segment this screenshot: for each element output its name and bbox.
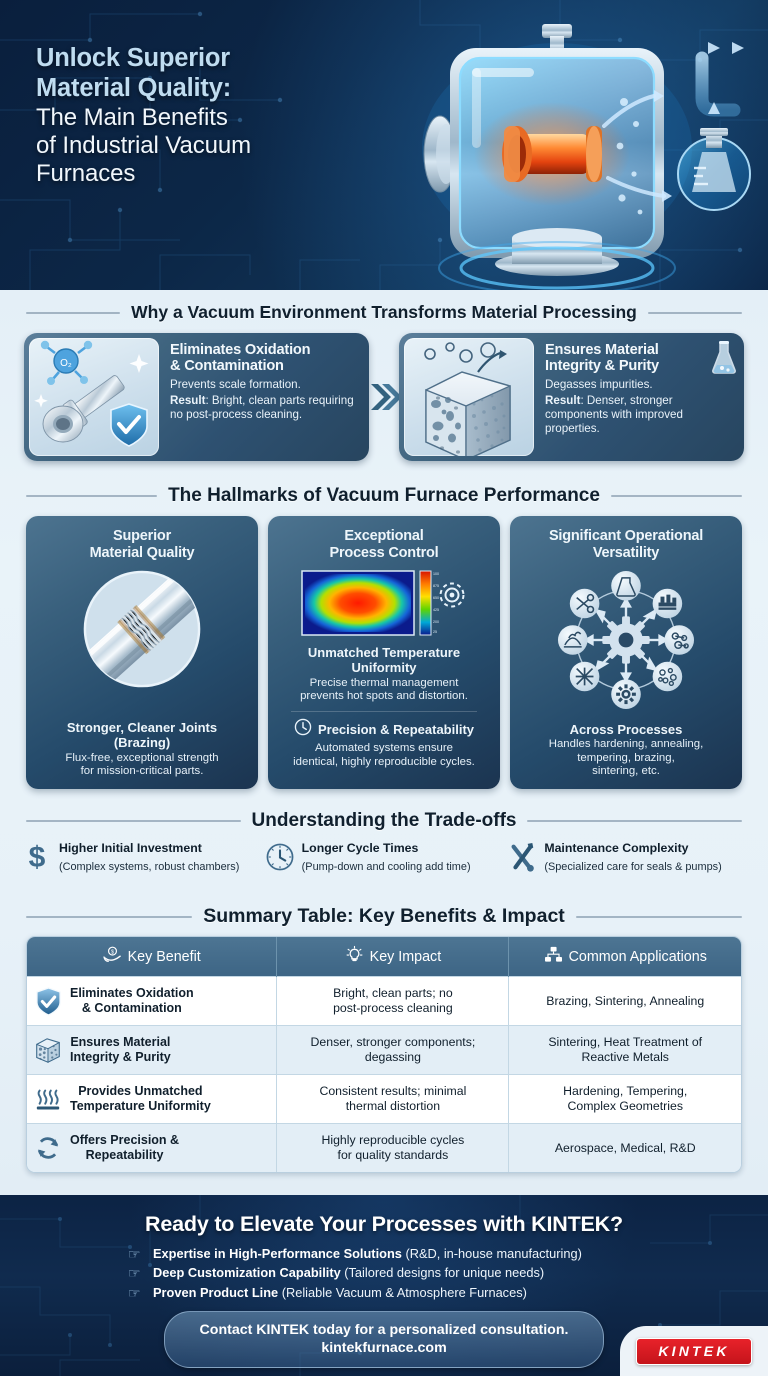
hcard1-sub-line1: Stronger, Cleaner Joints bbox=[67, 720, 217, 735]
bullet2-bold: Deep Customization Capability bbox=[153, 1265, 341, 1280]
section4-heading-row: Summary Table: Key Benefits & Impact bbox=[0, 905, 768, 928]
row2-impact-cell: Denser, stronger components; degassing bbox=[277, 1026, 509, 1075]
hcard2-title-line2: Process Control bbox=[330, 545, 439, 561]
rule-right bbox=[648, 312, 742, 314]
hcard2-sub-line1: Unmatched Temperature bbox=[308, 645, 460, 660]
tradeoff-items: $ Higher Initial Investment (Complex sys… bbox=[0, 832, 768, 875]
column-header-key-benefit[interactable]: $ Key Benefit bbox=[27, 937, 277, 977]
hero-title-line-2: Material Quality: bbox=[36, 74, 366, 104]
row3-impact-line2: thermal distortion bbox=[346, 1099, 440, 1113]
card2-title-line1: Ensures Material bbox=[545, 342, 659, 358]
row1-impact-line1: Bright, clean parts; no bbox=[333, 986, 453, 1000]
column-header-key-benefit-label: Key Benefit bbox=[128, 949, 201, 965]
section4-heading: Summary Table: Key Benefits & Impact bbox=[203, 905, 565, 928]
row3-benefit-line2: Temperature Uniformity bbox=[70, 1099, 211, 1113]
row3-benefit-label: Provides Unmatched Temperature Uniformit… bbox=[70, 1084, 211, 1113]
column-header-key-impact-label: Key Impact bbox=[370, 949, 442, 965]
hallmark-cards: Superior Material Quality bbox=[0, 507, 768, 789]
rule-right bbox=[611, 495, 742, 497]
kintek-logo: KINTEK bbox=[636, 1338, 752, 1365]
porous-cube-icon bbox=[34, 1035, 62, 1065]
hcard2-desc-line2: prevents hot spots and distortion. bbox=[300, 690, 468, 702]
row2-apps-line1: Sintering, Heat Treatment of bbox=[548, 1035, 702, 1049]
row3-impact-line1: Consistent results; minimal bbox=[319, 1084, 466, 1098]
card2-result-label: Result bbox=[545, 394, 580, 407]
hcard2-title-line1: Exceptional bbox=[344, 528, 423, 544]
section2-heading-row: The Hallmarks of Vacuum Furnace Performa… bbox=[0, 485, 768, 507]
row1-impact-cell: Bright, clean parts; no post-process cle… bbox=[277, 977, 509, 1026]
contact-cta-button[interactable]: Contact KINTEK today for a personalized … bbox=[164, 1311, 604, 1368]
svg-text:$: $ bbox=[29, 841, 46, 874]
svg-text:25: 25 bbox=[433, 630, 437, 634]
hand-holding-dollar-icon: $ bbox=[103, 946, 122, 967]
hcard2-sub-line2: Uniformity bbox=[352, 660, 417, 675]
hero-title-line-1: Unlock Superior bbox=[36, 44, 366, 74]
row4-benefit-line1: Offers Precision & bbox=[70, 1133, 179, 1147]
footer-cta: Ready to Elevate Your Processes with KIN… bbox=[0, 1195, 768, 1376]
hero-banner: Unlock Superior Material Quality: The Ma… bbox=[0, 0, 768, 290]
card1-result-label: Result bbox=[170, 394, 205, 407]
summary-table: $ Key Benefit bbox=[27, 937, 741, 1172]
row1-benefit-line1: Eliminates Oxidation bbox=[70, 986, 194, 1000]
rule-left bbox=[26, 916, 192, 918]
rule-left bbox=[26, 820, 241, 822]
hcard3-footer: Across Processes Handles hardening, anne… bbox=[519, 722, 733, 779]
card-superior-material-quality[interactable]: Superior Material Quality bbox=[26, 516, 258, 789]
erlenmeyer-flask-icon bbox=[710, 340, 738, 376]
hcard1-sub: Stronger, Cleaner Joints (Brazing) bbox=[35, 720, 249, 750]
flow-arrow-wrap bbox=[369, 333, 399, 461]
hcard2-desc2: Automated systems ensure identical, high… bbox=[277, 742, 491, 769]
row4-impact-line1: Highly reproducible cycles bbox=[321, 1133, 464, 1147]
lightbulb-idea-icon bbox=[345, 945, 364, 968]
row2-benefit-line2: Integrity & Purity bbox=[70, 1050, 171, 1064]
hcard1-sub-line2: (Brazing) bbox=[114, 735, 170, 750]
tradeoff2-title: Longer Cycle Times bbox=[302, 841, 419, 855]
hcard3-title-line2: Versatility bbox=[593, 545, 659, 561]
list-item: ☞ Proven Product Line (Reliable Vacuum &… bbox=[128, 1285, 768, 1300]
row1-benefit-line2: & Contamination bbox=[82, 1001, 182, 1015]
card2-title: Ensures Material Integrity & Purity bbox=[545, 342, 736, 375]
tradeoff-maintenance-complexity[interactable]: Maintenance Complexity (Specialized care… bbox=[507, 839, 746, 875]
hcard1-desc-line2: for mission-critical parts. bbox=[81, 765, 204, 777]
summary-table-wrapper: $ Key Benefit bbox=[26, 936, 742, 1173]
tradeoff-higher-initial-investment[interactable]: $ Higher Initial Investment (Complex sys… bbox=[22, 839, 261, 875]
pointing-hand-right-icon: ☞ bbox=[128, 1286, 145, 1300]
rule-right bbox=[576, 916, 742, 918]
bullet2-text: Deep Customization Capability (Tailored … bbox=[153, 1265, 544, 1280]
hero-title: Unlock Superior Material Quality: The Ma… bbox=[36, 44, 366, 188]
row3-benefit-cell: Provides Unmatched Temperature Uniformit… bbox=[27, 1075, 277, 1124]
card2-result: Result: Denser, stronger components with… bbox=[545, 394, 736, 435]
table-row[interactable]: Offers Precision & Repeatability Highly … bbox=[27, 1124, 741, 1173]
row2-impact-line1: Denser, stronger components; bbox=[311, 1035, 476, 1049]
brazed-pipe-joint-photo-icon bbox=[35, 568, 249, 690]
tradeoff1-title: Higher Initial Investment bbox=[59, 841, 202, 855]
bullet1-text: Expertise in High-Performance Solutions … bbox=[153, 1246, 582, 1261]
hero-title-line-5: Furnaces bbox=[36, 160, 366, 188]
dollar-sign-icon: $ bbox=[22, 840, 52, 874]
bullet1-bold: Expertise in High-Performance Solutions bbox=[153, 1246, 402, 1261]
card1-title-line2: & Contamination bbox=[170, 358, 284, 374]
section-hallmarks: The Hallmarks of Vacuum Furnace Performa… bbox=[0, 485, 768, 789]
card-ensures-material-integrity[interactable]: Ensures Material Integrity & Purity Dega… bbox=[399, 333, 744, 461]
kintek-logo-tab: KINTEK bbox=[620, 1326, 768, 1376]
row4-apps-cell: Aerospace, Medical, R&D bbox=[509, 1124, 741, 1173]
bullet3-text: Proven Product Line (Reliable Vacuum & A… bbox=[153, 1285, 527, 1300]
body-sections: Why a Vacuum Environment Transforms Mate… bbox=[0, 290, 768, 1195]
hcard2-sub: Unmatched Temperature Uniformity bbox=[277, 645, 491, 675]
hcard3-sub: Across Processes bbox=[519, 722, 733, 737]
pointing-hand-right-icon: ☞ bbox=[128, 1247, 145, 1261]
shield-check-icon bbox=[34, 986, 62, 1016]
list-item: ☞ Expertise in High-Performance Solution… bbox=[128, 1246, 768, 1261]
pointing-hand-right-icon: ☞ bbox=[128, 1266, 145, 1280]
thermal-heatmap-with-gear-icon: 100875650 42520025 bbox=[277, 568, 491, 638]
tradeoff3-title: Maintenance Complexity bbox=[544, 841, 688, 855]
svg-text:$: $ bbox=[111, 949, 114, 955]
clock-icon bbox=[265, 840, 295, 874]
card1-result: Result: Bright, clean parts requiring no… bbox=[170, 394, 361, 422]
why-vacuum-cards: O₂ bbox=[0, 323, 768, 461]
rule-left bbox=[26, 495, 157, 497]
hcard1-title-line2: Material Quality bbox=[90, 545, 195, 561]
tradeoff3-sub: (Specialized care for seals & pumps) bbox=[544, 861, 721, 873]
row2-apps-cell: Sintering, Heat Treatment of Reactive Me… bbox=[509, 1026, 741, 1075]
porous-metal-cube-with-escaping-bubbles-icon bbox=[404, 338, 534, 456]
hcard3-desc-line2: tempering, brazing, bbox=[577, 752, 675, 764]
svg-text:650: 650 bbox=[433, 596, 439, 600]
tradeoff3-text: Maintenance Complexity (Specialized care… bbox=[544, 839, 746, 875]
sitemap-icon bbox=[544, 946, 563, 967]
rule-left bbox=[26, 312, 120, 314]
card1-title-line1: Eliminates Oxidation bbox=[170, 342, 310, 358]
section1-heading: Why a Vacuum Environment Transforms Mate… bbox=[131, 302, 637, 323]
infographic-page: Unlock Superior Material Quality: The Ma… bbox=[0, 0, 768, 1376]
table-row[interactable]: Eliminates Oxidation & Contamination Bri… bbox=[27, 977, 741, 1026]
hcard1-desc: Flux-free, exceptional strength for miss… bbox=[35, 752, 249, 779]
tradeoff1-text: Higher Initial Investment (Complex syste… bbox=[59, 839, 261, 875]
hcard1-footer: Stronger, Cleaner Joints (Brazing) Flux-… bbox=[35, 720, 249, 779]
row1-impact-line2: post-process cleaning bbox=[333, 1001, 453, 1015]
refresh-cycle-icon bbox=[34, 1133, 62, 1163]
column-header-common-applications-label: Common Applications bbox=[569, 949, 707, 965]
row2-benefit-cell: Ensures Material Integrity & Purity bbox=[27, 1026, 277, 1075]
hcard3-title-line1: Significant Operational bbox=[549, 528, 703, 544]
tradeoff2-sub: (Pump-down and cooling add time) bbox=[302, 861, 471, 873]
row2-impact-line2: degassing bbox=[365, 1050, 421, 1064]
bolt-with-oxygen-molecule-and-shield-check-icon: O₂ bbox=[29, 338, 159, 456]
section3-heading-row: Understanding the Trade-offs bbox=[0, 810, 768, 832]
hcard1-title: Superior Material Quality bbox=[35, 528, 249, 562]
row4-impact-line2: for quality standards bbox=[338, 1148, 449, 1162]
hcard3-desc: Handles hardening, annealing, tempering,… bbox=[519, 738, 733, 779]
row3-apps-cell: Hardening, Tempering, Complex Geometries bbox=[509, 1075, 741, 1124]
gear-hub-with-eight-process-icons-wheel bbox=[519, 570, 733, 710]
hcard1-desc-line1: Flux-free, exceptional strength bbox=[65, 752, 218, 764]
section3-heading: Understanding the Trade-offs bbox=[252, 810, 517, 832]
hcard3-title: Significant Operational Versatility bbox=[519, 528, 733, 562]
svg-text:425: 425 bbox=[433, 608, 439, 612]
svg-text:100: 100 bbox=[433, 572, 439, 576]
tradeoff2-text: Longer Cycle Times (Pump-down and coolin… bbox=[302, 839, 504, 875]
section2-heading: The Hallmarks of Vacuum Furnace Performa… bbox=[168, 485, 600, 507]
row3-benefit-line1: Provides Unmatched bbox=[78, 1084, 202, 1098]
cta-pill-line2[interactable]: kintekfurnace.com bbox=[321, 1340, 446, 1356]
hcard2-desc2-line1: Automated systems ensure bbox=[315, 742, 453, 754]
row3-apps-line1: Hardening, Tempering, bbox=[563, 1084, 687, 1098]
hcard1-title-line1: Superior bbox=[113, 528, 171, 544]
clock-icon bbox=[294, 718, 312, 741]
summary-table-body: Eliminates Oxidation & Contamination Bri… bbox=[27, 977, 741, 1173]
section-summary-table: Summary Table: Key Benefits & Impact bbox=[0, 905, 768, 1173]
hcard2-sub2-row: Precision & Repeatability bbox=[277, 718, 491, 741]
tradeoff-longer-cycle-times[interactable]: Longer Cycle Times (Pump-down and coolin… bbox=[265, 839, 504, 875]
table-row[interactable]: Provides Unmatched Temperature Uniformit… bbox=[27, 1075, 741, 1124]
card1-text: Eliminates Oxidation & Contamination Pre… bbox=[159, 333, 369, 461]
hcard2-desc2-line2: identical, highly reproducible cycles. bbox=[293, 756, 475, 768]
section-why-vacuum: Why a Vacuum Environment Transforms Mate… bbox=[0, 290, 768, 461]
bullet1-rest: (R&D, in-house manufacturing) bbox=[402, 1246, 582, 1261]
svg-text:200: 200 bbox=[433, 620, 439, 624]
bullet2-rest: (Tailored designs for unique needs) bbox=[341, 1265, 544, 1280]
row2-benefit-label: Ensures Material Integrity & Purity bbox=[70, 1035, 171, 1064]
bullet3-rest: (Reliable Vacuum & Atmosphere Furnaces) bbox=[278, 1285, 527, 1300]
hcard3-desc-line1: Handles hardening, annealing, bbox=[549, 738, 704, 750]
hcard2-title: Exceptional Process Control bbox=[277, 528, 491, 562]
row2-apps-line2: Reactive Metals bbox=[581, 1050, 668, 1064]
card1-line: Prevents scale formation. bbox=[170, 378, 361, 392]
row4-benefit-cell: Offers Precision & Repeatability bbox=[27, 1124, 277, 1173]
row3-impact-cell: Consistent results; minimal thermal dist… bbox=[277, 1075, 509, 1124]
row1-apps-cell: Brazing, Sintering, Annealing bbox=[509, 977, 741, 1026]
table-row[interactable]: Ensures Material Integrity & Purity Dens… bbox=[27, 1026, 741, 1075]
section-tradeoffs: Understanding the Trade-offs $ Higher In… bbox=[0, 810, 768, 875]
hcard2-divider bbox=[291, 711, 477, 712]
card-exceptional-process-control[interactable]: Exceptional Process Control bbox=[268, 516, 500, 789]
column-header-common-applications[interactable]: Common Applications bbox=[509, 937, 741, 977]
summary-table-head: $ Key Benefit bbox=[27, 937, 741, 977]
card2-line: Degasses impurities. bbox=[545, 378, 736, 392]
row4-benefit-label: Offers Precision & Repeatability bbox=[70, 1133, 179, 1162]
card-significant-operational-versatility[interactable]: Significant Operational Versatility bbox=[510, 516, 742, 789]
svg-text:O₂: O₂ bbox=[60, 358, 72, 369]
table-header-row: $ Key Benefit bbox=[27, 937, 741, 977]
hcard3-desc-line3: sintering, etc. bbox=[592, 765, 660, 777]
hcard2-desc: Precise thermal management prevents hot … bbox=[277, 677, 491, 704]
tradeoff1-sub: (Complex systems, robust chambers) bbox=[59, 861, 239, 873]
row4-impact-cell: Highly reproducible cycles for quality s… bbox=[277, 1124, 509, 1173]
hcard2-sub2: Precision & Repeatability bbox=[318, 722, 474, 737]
heat-waves-icon bbox=[34, 1084, 62, 1114]
list-item: ☞ Deep Customization Capability (Tailore… bbox=[128, 1265, 768, 1280]
bullet3-bold: Proven Product Line bbox=[153, 1285, 278, 1300]
row2-benefit-line1: Ensures Material bbox=[70, 1035, 170, 1049]
section1-heading-row: Why a Vacuum Environment Transforms Mate… bbox=[0, 302, 768, 323]
double-chevron-right-icon bbox=[369, 380, 399, 414]
hero-title-line-4: of Industrial Vacuum bbox=[36, 132, 366, 160]
rule-right bbox=[527, 820, 742, 822]
cta-title: Ready to Elevate Your Processes with KIN… bbox=[0, 1195, 768, 1237]
hcard2-desc-line1: Precise thermal management bbox=[310, 677, 459, 689]
row4-benefit-line2: Repeatability bbox=[86, 1148, 164, 1162]
vacuum-furnace-illustration bbox=[372, 6, 764, 290]
svg-text:875: 875 bbox=[433, 584, 439, 588]
row1-benefit-cell: Eliminates Oxidation & Contamination bbox=[27, 977, 277, 1026]
hero-title-line-3: The Main Benefits bbox=[36, 104, 366, 132]
cta-bullets: ☞ Expertise in High-Performance Solution… bbox=[0, 1246, 768, 1300]
wrench-screwdriver-icon bbox=[507, 840, 537, 874]
row3-apps-line2: Complex Geometries bbox=[567, 1099, 683, 1113]
card1-title: Eliminates Oxidation & Contamination bbox=[170, 342, 361, 375]
cta-pill-line1: Contact KINTEK today for a personalized … bbox=[200, 1322, 569, 1338]
card-eliminates-oxidation[interactable]: O₂ bbox=[24, 333, 369, 461]
column-header-key-impact[interactable]: Key Impact bbox=[277, 937, 509, 977]
card2-title-line2: Integrity & Purity bbox=[545, 358, 659, 374]
row1-benefit-label: Eliminates Oxidation & Contamination bbox=[70, 986, 194, 1015]
